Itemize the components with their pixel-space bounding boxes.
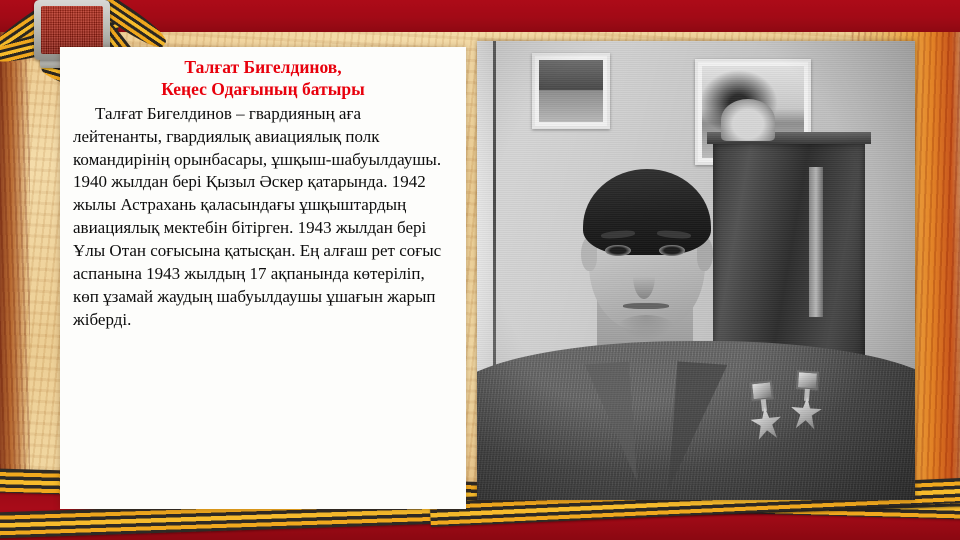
photo-nose [633,253,655,299]
photo-eye-right [659,245,685,256]
title-line-2: Кеңес Одағының батыры [73,78,453,100]
page-title: Талғат Бигелдинов, Кеңес Одағының батыры [73,56,453,101]
portrait-photo [477,41,915,500]
text-panel: Талғат Бигелдинов, Кеңес Одағының батыры… [60,47,466,509]
cabinet-object-icon [721,99,775,141]
photo-image [477,41,915,500]
biography-text: Талғат Бигелдинов – гвардияның аға лейте… [73,103,453,332]
gold-star-shape-right [789,396,823,430]
cabinet-glass-pane [809,167,823,317]
photo-chin [617,315,675,341]
photo-lapel-right [669,361,728,492]
wall-picture-left-icon [532,53,610,129]
gold-star-medal-icon [746,379,786,442]
photo-mouth [623,303,669,309]
photo-eye-left [605,245,631,256]
gold-star-suspension-right [796,370,819,390]
gold-star-medal-icon [789,370,827,432]
slide-root: Талғат Бигелдинов, Кеңес Одағының батыры… [0,0,960,540]
title-line-1: Талғат Бигелдинов, [73,56,453,78]
photo-lapel-left [585,362,637,485]
gold-star-suspension-left [750,380,774,401]
gold-star-stem-left [761,399,767,411]
